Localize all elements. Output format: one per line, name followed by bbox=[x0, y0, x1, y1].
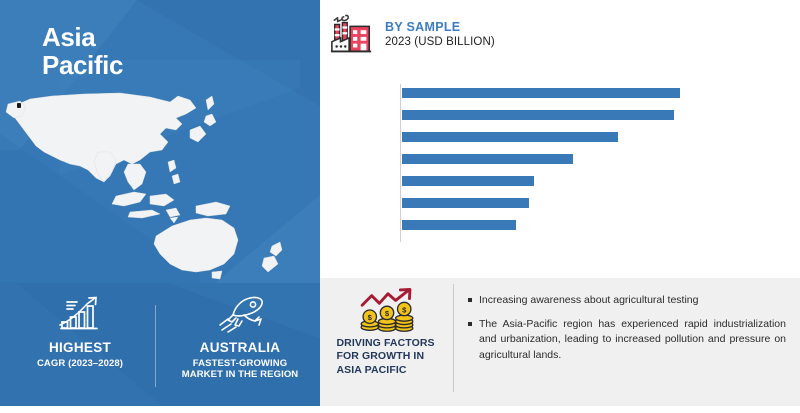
bar-seed bbox=[402, 132, 618, 142]
bottom-strip bbox=[0, 406, 800, 413]
svg-text:$: $ bbox=[402, 305, 407, 314]
region-stats-panel: HIGHEST CAGR (2023–2028) AUSTRALIA FASTE bbox=[0, 283, 320, 406]
driving-factors-heading-line1: DRIVING FACTORS bbox=[337, 337, 437, 350]
region-title-line1: Asia bbox=[42, 23, 123, 51]
driving-factors-heading-group: $ $ $ bbox=[320, 278, 453, 406]
region-title-line2: Pacific bbox=[42, 51, 123, 79]
coins-growth-arrow-icon: $ $ $ bbox=[356, 288, 418, 332]
stat-australia-subline-1: FASTEST-GROWING bbox=[193, 358, 287, 370]
list-item: The Asia-Pacific region has experienced … bbox=[468, 317, 786, 363]
region-title: Asia Pacific bbox=[42, 23, 123, 79]
svg-text:$: $ bbox=[367, 313, 372, 322]
map-marker-dot bbox=[17, 103, 21, 108]
chart-panel: BY SAMPLE 2023 (USD BILLION) Soil Water … bbox=[320, 0, 800, 278]
driving-factors-heading-line2: FOR GROWTH IN bbox=[337, 350, 437, 363]
bar-chart-plot: Soil Water Seed Compost Plant Tissue Man… bbox=[320, 82, 800, 252]
bar-compost bbox=[402, 154, 573, 164]
driving-factors-heading-line3: ASIA PACIFIC bbox=[337, 364, 437, 377]
chart-y-axis bbox=[400, 84, 401, 242]
stat-highest-headline: HIGHEST bbox=[49, 340, 111, 356]
stats-divider bbox=[155, 305, 156, 387]
bar-manure bbox=[402, 198, 529, 208]
driving-factors-bullets: Increasing awareness about agricultural … bbox=[453, 284, 800, 392]
driving-factors-panel: $ $ $ bbox=[320, 278, 800, 406]
region-map-panel: Asia Pacific bbox=[0, 0, 320, 283]
asia-pacific-map-icon bbox=[0, 60, 320, 280]
driving-factors-heading: DRIVING FACTORS FOR GROWTH IN ASIA PACIF… bbox=[337, 337, 437, 377]
growth-bar-chart-arrow-icon bbox=[53, 295, 107, 335]
svg-text:$: $ bbox=[384, 309, 389, 318]
stat-australia-subline-2: MARKET IN THE REGION bbox=[182, 369, 299, 381]
stat-highest-cagr: HIGHEST CAGR (2023–2028) bbox=[0, 283, 160, 406]
chart-title: BY SAMPLE bbox=[385, 20, 495, 35]
chart-title-group: BY SAMPLE 2023 (USD BILLION) bbox=[385, 20, 495, 49]
stat-highest-subline: CAGR (2023–2028) bbox=[37, 358, 123, 370]
bar-plant-tissue bbox=[402, 176, 534, 186]
infographic-page: Asia Pacific bbox=[0, 0, 800, 413]
bar-soil bbox=[402, 88, 680, 98]
factory-icon bbox=[329, 12, 375, 58]
rocket-icon bbox=[211, 295, 269, 335]
bar-water bbox=[402, 110, 674, 120]
list-item: Increasing awareness about agricultural … bbox=[468, 293, 786, 308]
stat-australia: AUSTRALIA FASTEST-GROWING MARKET IN THE … bbox=[160, 283, 320, 406]
stat-australia-headline: AUSTRALIA bbox=[200, 340, 281, 356]
bar-biosolids bbox=[402, 220, 516, 230]
chart-subtitle: 2023 (USD BILLION) bbox=[385, 36, 495, 50]
chart-header: BY SAMPLE 2023 (USD BILLION) bbox=[329, 12, 495, 58]
